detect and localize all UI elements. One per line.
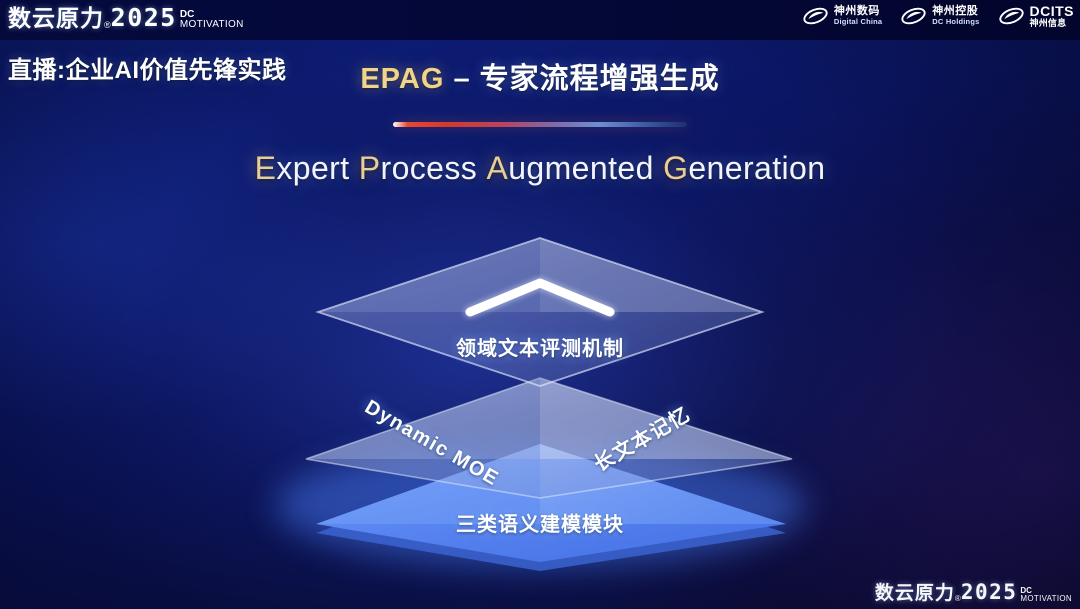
subtitle-word-rest: rocess — [381, 150, 487, 186]
brand-name-cn: 数云原力 — [875, 584, 955, 603]
partner-name-cn: DCITS — [1030, 4, 1075, 19]
title-divider — [393, 122, 687, 127]
slide-stage: 领域文本评测机制 Dynamic MOE 长文本记忆 三类语义建模模块 数云原力… — [0, 0, 1080, 609]
spiral-logo-icon — [802, 5, 829, 27]
partner-logo-group: 神州数码 Digital China 神州控股 DC Holdings DCIT… — [802, 4, 1074, 28]
subtitle-word-rest: eneration — [688, 150, 825, 186]
brand-motivation-text: MOTIVATION — [1020, 595, 1072, 603]
spiral-logo-icon — [900, 5, 927, 27]
partner-logo-dcits: DCITS 神州信息 — [998, 4, 1075, 28]
subtitle-expansion: Expert Process Augmented Generation — [0, 150, 1080, 187]
title-acronym: EPAG — [360, 63, 444, 95]
subtitle-initial-g: G — [663, 150, 688, 186]
partner-logo-dc-holdings: 神州控股 DC Holdings — [900, 5, 979, 27]
layer-label-top: 领域文本评测机制 — [456, 332, 624, 361]
subtitle-initial-a: A — [486, 150, 508, 186]
brand-logo: 数云原力 ® 2025 DC MOTIVATION — [8, 5, 244, 30]
subtitle-word-rest: xpert — [276, 150, 358, 186]
brand-name-cn: 数云原力 — [8, 7, 104, 30]
partner-name-en: DC Holdings — [932, 18, 979, 26]
brand-dc-motivation: DC MOTIVATION — [1020, 587, 1072, 603]
diagram-layer-top — [318, 238, 762, 386]
subtitle-initial-e: E — [255, 150, 277, 186]
partner-name-en: 神州信息 — [1030, 19, 1075, 28]
subtitle-initial-p: P — [359, 150, 381, 186]
title-subtext: – 专家流程增强生成 — [444, 63, 719, 95]
brand-watermark: 数云原力 ® 2025 DC MOTIVATION — [875, 582, 1072, 603]
partner-text: 神州数码 Digital China — [834, 6, 882, 25]
brand-year: 2025 — [961, 582, 1018, 603]
live-broadcast-title: 直播:企业AI价值先锋实践 — [8, 50, 287, 85]
brand-motivation-text: MOTIVATION — [180, 20, 244, 30]
brand-dc-motivation: DC MOTIVATION — [180, 10, 244, 30]
partner-logo-digital-china: 神州数码 Digital China — [802, 5, 882, 27]
brand-registered-mark: ® — [104, 21, 111, 30]
partner-text: DCITS 神州信息 — [1030, 4, 1075, 28]
subtitle-word-rest: ugmented — [508, 150, 663, 186]
partner-name-en: Digital China — [834, 18, 882, 26]
partner-text: 神州控股 DC Holdings — [932, 6, 979, 25]
brand-year: 2025 — [111, 5, 177, 30]
layer-label-bottom: 三类语义建模模块 — [456, 508, 624, 537]
spiral-logo-icon — [998, 5, 1025, 27]
